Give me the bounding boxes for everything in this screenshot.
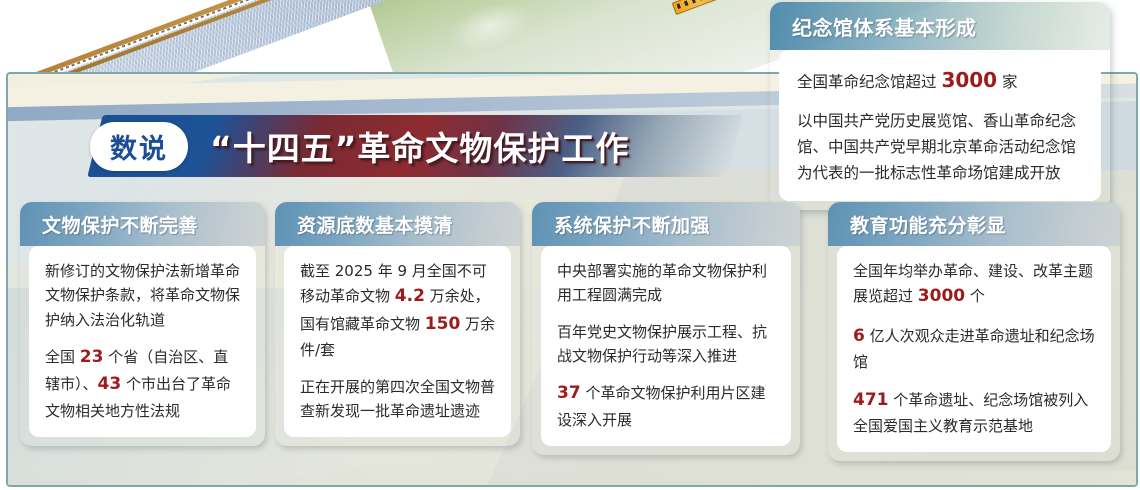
highlight-number: 43 [98, 374, 122, 394]
highlight-number: 471 [853, 390, 889, 410]
card-paragraph: 新修订的文物保护法新增革命文物保护条款，将革命文物保护纳入法治化轨道 [45, 259, 242, 332]
stat-card-body: 截至 2025 年 9 月全国不可移动革命文物 4.2 万余处，国有馆藏革命文物… [284, 246, 511, 437]
paragraph-text: 亿人次观众走进革命遗址和纪念场馆 [853, 327, 1095, 372]
highlight-number: 37 [557, 383, 581, 403]
stat-card-body: 新修订的文物保护法新增革命文物保护条款，将革命文物保护纳入法治化轨道全国 23 … [29, 246, 256, 437]
card-paragraph: 全国 23 个省（自治区、直辖市）、43 个市出台了革命文物相关地方性法规 [45, 344, 242, 423]
card-paragraph: 正在开展的第四次全国文物普查新发现一批革命遗址遗迹 [300, 375, 497, 424]
shushuo-badge: 数说 [90, 122, 188, 171]
highlight-number: 150 [425, 314, 461, 334]
paragraph-text: 百年党史文物保护展示工程、抗战文物保护行动等深入推进 [557, 323, 767, 365]
highlight-number: 23 [80, 347, 104, 367]
paragraph-text: 全国革命纪念馆超过 [797, 73, 941, 91]
stat-card-education-function: 教育功能充分彰显 全国年均举办革命、建设、改革主题展览超过 3000 个6 亿人… [828, 202, 1120, 461]
paragraph-text: 个革命遗址、纪念场馆被列入全国爱国主义教育示范基地 [853, 391, 1088, 436]
stat-card-systematic-protection: 系统保护不断加强 中央部署实施的革命文物保护利用工程圆满完成百年党史文物保护展示… [532, 202, 800, 455]
stat-card-resource-survey: 资源底数基本摸清 截至 2025 年 9 月全国不可移动革命文物 4.2 万余处… [275, 202, 520, 446]
stat-card-heritage-protection: 文物保护不断完善 新修订的文物保护法新增革命文物保护条款，将革命文物保护纳入法治… [20, 202, 265, 446]
card-paragraph: 百年党史文物保护展示工程、抗战文物保护行动等深入推进 [557, 320, 777, 369]
paragraph-text: 中央部署实施的革命文物保护利用工程圆满完成 [557, 262, 767, 304]
paragraph-text: 以中国共产党历史展览馆、香山革命纪念馆、中国共产党早期北京革命活动纪念馆为代表的… [797, 112, 1076, 181]
card-paragraph: 全国革命纪念馆超过 3000 家 [797, 64, 1085, 97]
card-paragraph: 中央部署实施的革命文物保护利用工程圆满完成 [557, 259, 777, 308]
card-paragraph: 截至 2025 年 9 月全国不可移动革命文物 4.2 万余处，国有馆藏革命文物… [300, 259, 497, 363]
highlight-number: 3000 [918, 286, 965, 306]
card-paragraph: 471 个革命遗址、纪念场馆被列入全国爱国主义教育示范基地 [853, 387, 1097, 439]
paragraph-text: 全国 [45, 348, 80, 366]
paragraph-text: 正在开展的第四次全国文物普查新发现一批革命遗址遗迹 [300, 378, 495, 420]
stat-card-body: 全国年均举办革命、建设、改革主题展览超过 3000 个6 亿人次观众走进革命遗址… [837, 246, 1111, 452]
paragraph-text: 个 [965, 287, 985, 305]
highlight-number: 4.2 [395, 286, 425, 306]
page-title: “十四五”革命文物保护工作 [210, 122, 629, 170]
stat-card-title: 资源底数基本摸清 [275, 202, 520, 246]
hero-card-memorial-system: 纪念馆体系基本形成 全国革命纪念馆超过 3000 家以中国共产党历史展览馆、香山… [770, 2, 1110, 210]
hero-card-title: 纪念馆体系基本形成 [770, 2, 1110, 50]
hero-card-body: 全国革命纪念馆超过 3000 家以中国共产党历史展览馆、香山革命纪念馆、中国共产… [779, 50, 1101, 201]
stat-card-title: 教育功能充分彰显 [828, 202, 1120, 246]
stat-card-body: 中央部署实施的革命文物保护利用工程圆满完成百年党史文物保护展示工程、抗战文物保护… [541, 246, 791, 446]
stat-card-title: 文物保护不断完善 [20, 202, 265, 246]
title-bar: 数说 “十四五”革命文物保护工作 [95, 115, 755, 177]
paragraph-text: 个革命文物保护利用片区建设深入开展 [557, 384, 765, 429]
highlight-number: 3000 [941, 68, 997, 92]
stat-card-title: 系统保护不断加强 [532, 202, 800, 246]
infographic-root: 数说 “十四五”革命文物保护工作 纪念馆体系基本形成 全国革命纪念馆超过 300… [0, 0, 1140, 490]
card-paragraph: 全国年均举办革命、建设、改革主题展览超过 3000 个 [853, 259, 1097, 311]
paragraph-text: 新修订的文物保护法新增革命文物保护条款，将革命文物保护纳入法治化轨道 [45, 262, 240, 329]
card-paragraph: 6 亿人次观众走进革命遗址和纪念场馆 [853, 323, 1097, 375]
card-paragraph: 以中国共产党历史展览馆、香山革命纪念馆、中国共产党早期北京革命活动纪念馆为代表的… [797, 109, 1085, 186]
highlight-number: 6 [853, 326, 865, 346]
card-paragraph: 37 个革命文物保护利用片区建设深入开展 [557, 380, 777, 432]
paragraph-text: 家 [997, 73, 1017, 91]
